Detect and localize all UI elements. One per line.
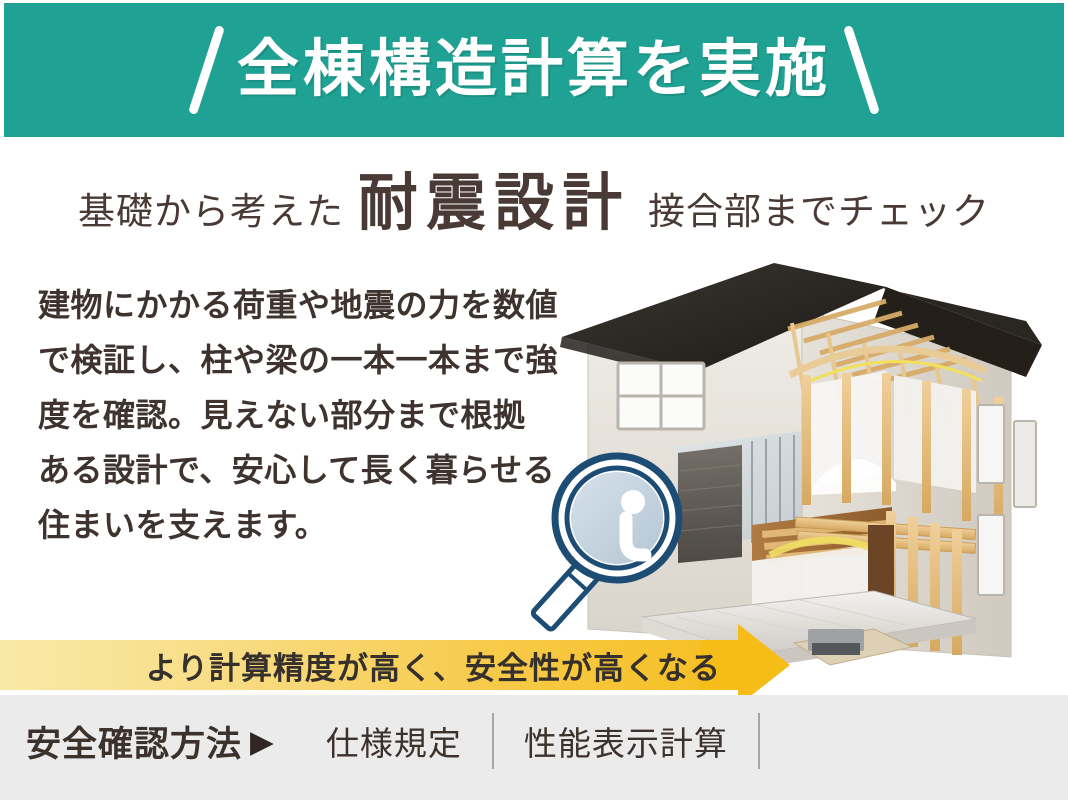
right-slash-icon: [843, 25, 880, 115]
subtitle-prefix: 基礎から考えた: [78, 181, 344, 235]
safety-method-label: 安全確認方法: [26, 716, 242, 767]
bottom-bar-items: 安全確認方法 ▶ 仕様規定 性能表示計算: [26, 695, 760, 787]
caret-right-icon: ▶: [250, 726, 274, 757]
body-line: 建物にかかる荷重や地震の力を数値: [38, 278, 568, 333]
body-line: ある設計で、安心して長く暮らせる: [38, 443, 568, 498]
magnifier-icon: [525, 445, 700, 650]
header-banner: 全棟構造計算を実施: [4, 3, 1064, 137]
body-line: 住まいを支えます。: [38, 498, 568, 553]
header-title: 全棟構造計算を実施: [237, 39, 831, 101]
arrow-banner: より計算精度が高く、安全性が高くなる: [0, 640, 790, 690]
body-paragraph: 建物にかかる荷重や地震の力を数値 で検証し、柱や梁の一本一本まで強 度を確認。見…: [38, 278, 568, 553]
separator: [758, 713, 760, 769]
poster-root: 全棟構造計算を実施 基礎から考えた 耐震設計 接合部までチェック 建物にかかる荷…: [0, 0, 1068, 800]
body-line: で検証し、柱や梁の一本一本まで強: [38, 333, 568, 388]
bottom-bar: 安全確認方法 ▶ 仕様規定 性能表示計算 構造計算 許容応力度計算: [0, 695, 1068, 800]
left-slash-icon: [188, 25, 225, 115]
arrow-banner-text: より計算精度が高く、安全性が高くなる: [0, 640, 735, 690]
subtitle-row: 基礎から考えた 耐震設計 接合部までチェック: [0, 152, 1068, 232]
method-item-performance-calc[interactable]: 性能表示計算: [494, 717, 758, 765]
method-item-spec-rule[interactable]: 仕様規定: [296, 717, 492, 765]
body-line: 度を確認。見えない部分まで根拠: [38, 388, 568, 443]
